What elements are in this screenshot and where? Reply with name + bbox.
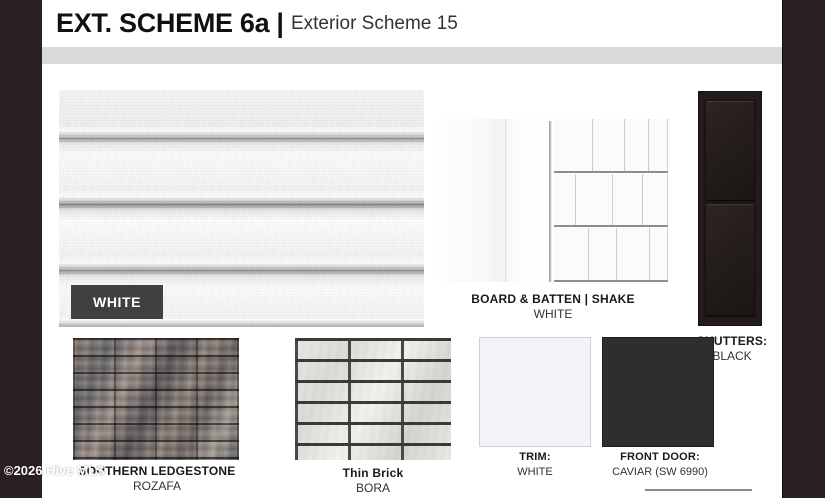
- shake-tile: [643, 174, 668, 228]
- shake-tile: [613, 174, 643, 228]
- shake-tile: [554, 174, 576, 228]
- shutter-panel-top: [706, 101, 754, 201]
- board-batten-shake-swatch: [438, 119, 668, 282]
- shake-tile: [554, 228, 589, 282]
- header-gray-band: [42, 47, 782, 64]
- board-batten-caption-title: BOARD & BATTEN | SHAKE: [438, 292, 668, 307]
- brick-caption: Thin Brick BORA: [285, 466, 461, 496]
- shake-row: [554, 119, 668, 173]
- left-frame-bar: [0, 0, 42, 498]
- shutter-panel-bottom: [706, 204, 754, 316]
- page-subtitle: Exterior Scheme 15: [291, 13, 458, 35]
- board-batten-grain-texture: [438, 119, 550, 282]
- shake-tile: [625, 119, 649, 173]
- board-batten-caption: BOARD & BATTEN | SHAKE WHITE: [438, 292, 668, 322]
- brick-swatch: [295, 338, 451, 460]
- brick-caption-subtitle: BORA: [285, 481, 461, 496]
- right-frame-edge-line: [782, 0, 783, 498]
- page-title: EXT. SCHEME 6a: [56, 8, 269, 39]
- siding-color-badge: WHITE: [71, 285, 163, 319]
- trim-color-swatch: [479, 337, 591, 447]
- scheme-board: EXT. SCHEME 6a | Exterior Scheme 15 WHIT…: [0, 0, 825, 498]
- trim-caption-title: TRIM:: [467, 450, 603, 465]
- lap-siding-swatch: WHITE: [59, 90, 424, 327]
- shake-tile: [593, 119, 625, 173]
- front-door-caption-subtitle: CAVIAR (SW 6990): [592, 465, 728, 480]
- scheme-page: EXT. SCHEME 6a | Exterior Scheme 15 WHIT…: [42, 0, 782, 498]
- shake-tile: [617, 228, 650, 282]
- stone-caption-subtitle: ROZAFA: [47, 479, 267, 494]
- shake-row: [554, 174, 668, 228]
- board-batten-caption-subtitle: WHITE: [438, 307, 668, 322]
- right-frame-bar: [782, 0, 825, 498]
- shake-panel: [554, 119, 668, 282]
- stone-swatch: [73, 338, 239, 460]
- shake-tile: [650, 228, 668, 282]
- shake-tile: [649, 119, 668, 173]
- trim-caption-subtitle: WHITE: [467, 465, 603, 480]
- front-door-caption-title: FRONT DOOR:: [592, 450, 728, 465]
- board-batten-panel: [438, 119, 550, 282]
- brick-caption-title: Thin Brick: [285, 466, 461, 481]
- board-batten-seam: [549, 121, 552, 282]
- shutter-swatch: [695, 88, 765, 329]
- front-door-caption: FRONT DOOR: CAVIAR (SW 6990): [592, 450, 728, 480]
- bottom-divider-rule: [645, 489, 752, 491]
- shutter-body: [698, 91, 762, 326]
- shake-tile: [554, 119, 593, 173]
- title-divider: |: [276, 8, 284, 39]
- front-door-color-swatch: [602, 337, 714, 447]
- shake-tile: [576, 174, 614, 228]
- trim-caption: TRIM: WHITE: [467, 450, 603, 480]
- page-header: EXT. SCHEME 6a | Exterior Scheme 15: [42, 0, 782, 47]
- shake-tile: [589, 228, 616, 282]
- copyright-watermark: ©2026 Hive MLS: [4, 463, 105, 478]
- shake-row: [554, 228, 668, 282]
